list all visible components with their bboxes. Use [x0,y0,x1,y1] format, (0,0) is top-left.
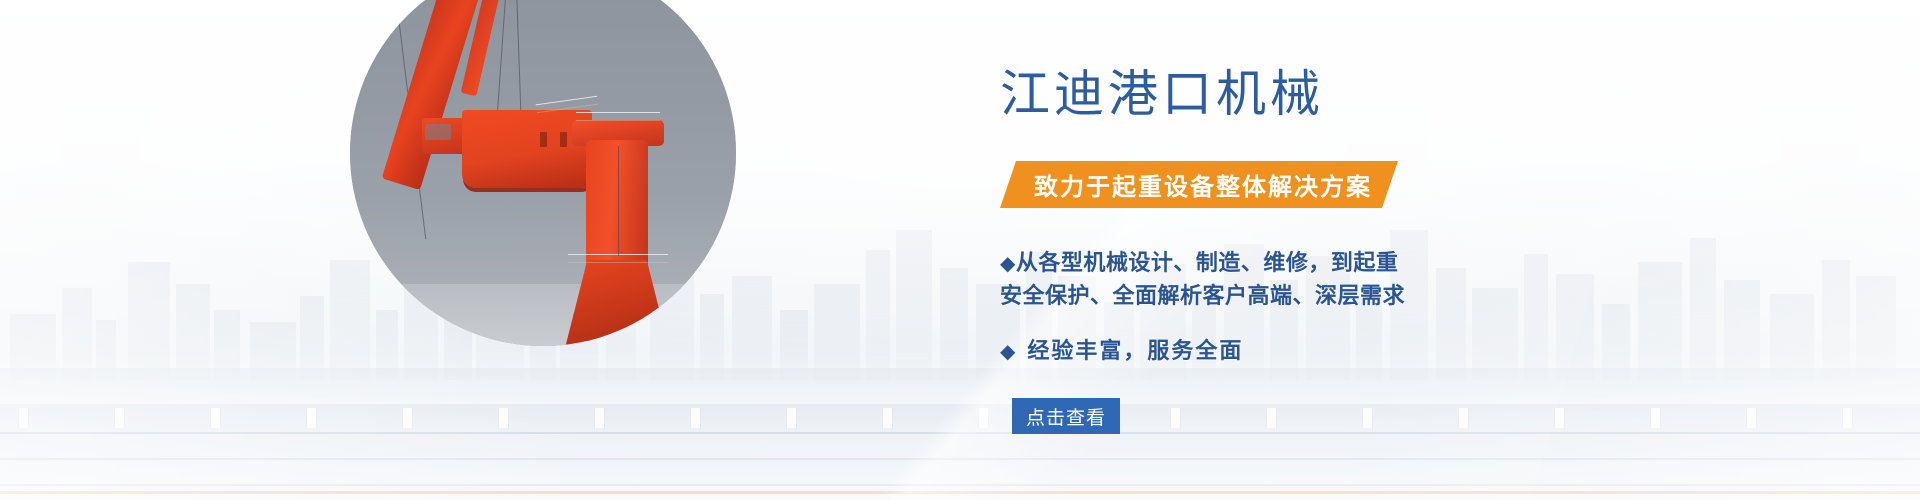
feature-list: ◆从各型机械设计、制造、维修，到起重 安全保护、全面解析客户高端、深层需求 ◆经… [1000,247,1405,365]
tagline-ribbon: 致力于起重设备整体解决方案 [1000,161,1398,208]
skyline-building [866,250,890,380]
guardrail-post [1266,408,1277,428]
guardrail-post [594,408,605,428]
guardrail-post [1554,408,1565,428]
guardrail-post [786,408,797,428]
port-crane-photo [350,0,736,346]
skyline-building [1524,254,1548,380]
crane-window [560,132,567,147]
guardrail-post [1362,408,1373,428]
skyline-building [896,230,932,380]
skyline-building [1856,276,1896,380]
background-guardrail [0,408,1920,428]
skyline-building [1822,260,1850,380]
road-lane-line [0,484,1920,486]
feature-line-2: 安全保护、全面解析客户高端、深层需求 [1000,283,1405,308]
road-lane-line [0,458,1920,460]
guardrail-post [1650,408,1661,428]
diamond-bullet-icon: ◆ [1000,341,1017,363]
guardrail-post [1170,408,1181,428]
skyline-building [1556,274,1594,380]
road-center-line [0,491,1920,494]
road-lane-line [0,432,1920,434]
skyline-building [1724,280,1760,380]
guardrail-post [1458,408,1469,428]
feature-line-3: 经验丰富，服务全面 [1027,338,1243,363]
crane-railing [576,112,660,121]
guardrail-post [882,408,893,428]
crane-window [540,132,547,147]
feature-item-single: ◆经验丰富，服务全面 [1000,333,1405,365]
guardrail-post [114,408,125,428]
tagline-text: 致力于起重设备整体解决方案 [1034,167,1372,202]
background-skyline [0,180,1920,380]
skyline-building [814,284,860,380]
guardrail-post [690,408,701,428]
view-details-button[interactable]: 点击查看 [1012,398,1120,434]
skyline-building [128,262,170,380]
guardrail-post [1746,408,1757,428]
feature-line-1: 从各型机械设计、制造、维修，到起重 [1016,250,1399,275]
skyline-building [1638,262,1682,380]
skyline-building [940,268,968,380]
guardrail-post [498,408,509,428]
guardrail-post [978,408,989,428]
diamond-bullet-icon: ◆ [1000,253,1016,275]
skyline-building [1436,268,1466,380]
skyline-building [176,284,210,380]
guardrail-post [1842,408,1853,428]
guardrail-post [402,408,413,428]
feature-item-paragraph: ◆从各型机械设计、制造、维修，到起重 安全保护、全面解析客户高端、深层需求 [1000,247,1405,311]
guardrail-post [210,408,221,428]
skyline-building [62,288,92,380]
skyline-building [732,276,772,380]
guardrail-post [18,408,29,428]
page-title: 江迪港口机械 [1000,64,1324,124]
hero-banner: 江迪港口机械 致力于起重设备整体解决方案 ◆从各型机械设计、制造、维修，到起重 … [0,0,1920,500]
guardrail-post [306,408,317,428]
crane-cable [618,146,619,256]
skyline-building [1472,288,1518,380]
photo-water [350,284,736,346]
skyline-building [1690,238,1716,380]
